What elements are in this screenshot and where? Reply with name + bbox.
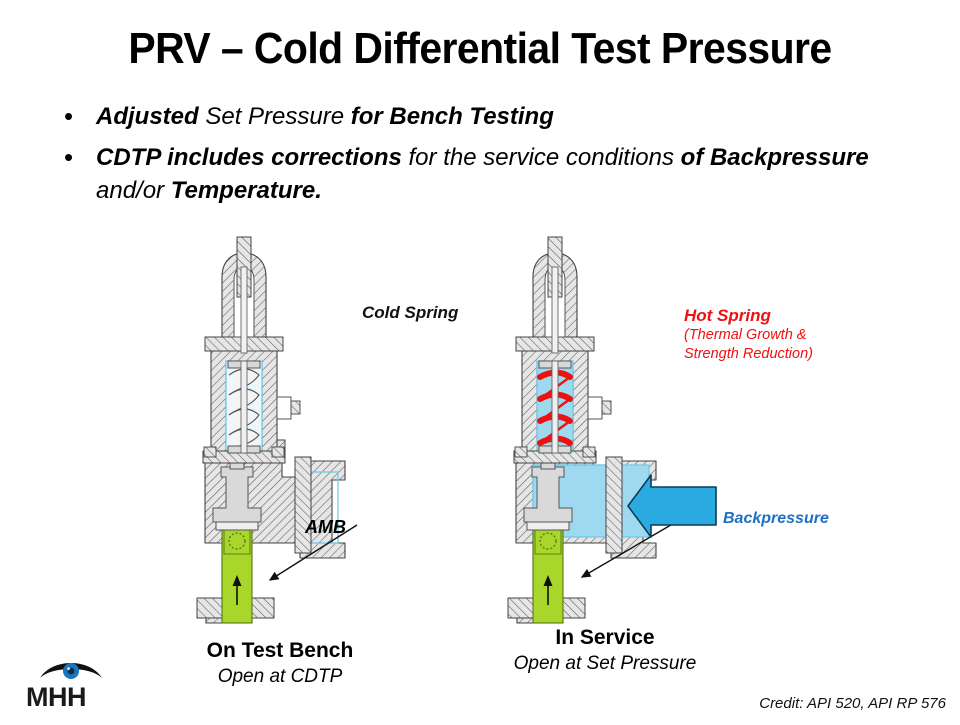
bullet-marker: • — [64, 100, 73, 133]
hot-spring-label: Hot Spring (Thermal Growth & Strength Re… — [684, 305, 813, 364]
right-bonnet — [514, 337, 611, 463]
bullet-segment: Set Pressure — [205, 103, 350, 130]
cold-spring-label: Cold Spring — [362, 303, 458, 323]
caption-right-main: In Service — [470, 625, 740, 651]
hot-spring-subtitle-line2: Strength Reduction) — [684, 345, 813, 364]
slide-root: PRV – Cold Differential Test Pressure • … — [0, 0, 960, 720]
amb-chamber-label: AMB — [305, 517, 346, 538]
mhh-wordmark: MHH — [26, 682, 86, 713]
hot-spring-subtitle-line1: (Thermal Growth & — [684, 326, 813, 345]
backpressure-label: Backpressure — [723, 510, 829, 528]
bullet-segment: and/or — [96, 177, 171, 204]
bullet-segment: of Backpressure — [681, 144, 869, 171]
bullet-list: • Adjusted Set Pressure for Bench Testin… — [52, 100, 932, 215]
caption-right-sub: Open at Set Pressure — [470, 651, 740, 677]
valve-right — [508, 237, 716, 623]
right-inlet-flow — [533, 528, 563, 623]
left-cap-lever — [222, 237, 266, 353]
caption-right-valve: In Service Open at Set Pressure — [470, 625, 740, 677]
caption-left-sub: Open at CDTP — [160, 664, 400, 690]
bullet-marker: • — [64, 141, 73, 174]
list-item: • Adjusted Set Pressure for Bench Testin… — [52, 100, 932, 133]
credit-line: Credit: API 520, API RP 576 — [759, 695, 946, 712]
list-item: • CDTP includes corrections for the serv… — [52, 141, 932, 207]
bullet-segment: CDTP — [96, 144, 167, 171]
hot-spring-title: Hot Spring — [684, 305, 813, 326]
caption-left-valve: On Test Bench Open at CDTP — [160, 638, 400, 690]
bullet-segment: includes corrections — [167, 144, 408, 171]
valve-left — [197, 237, 357, 623]
bullet-segment: Adjusted — [96, 103, 205, 130]
right-body-casting — [508, 453, 656, 623]
right-cap-lever — [533, 237, 577, 353]
bullet-segment: for Bench Testing — [351, 103, 554, 130]
bullet-segment: for the service conditions — [409, 144, 681, 171]
mhh-logo: MHH — [16, 656, 126, 712]
page-title: PRV – Cold Differential Test Pressure — [34, 24, 927, 74]
caption-left-main: On Test Bench — [160, 638, 400, 664]
bullet-segment: Temperature. — [171, 177, 322, 204]
left-body-casting — [197, 453, 345, 623]
left-inlet-flow — [222, 528, 252, 623]
